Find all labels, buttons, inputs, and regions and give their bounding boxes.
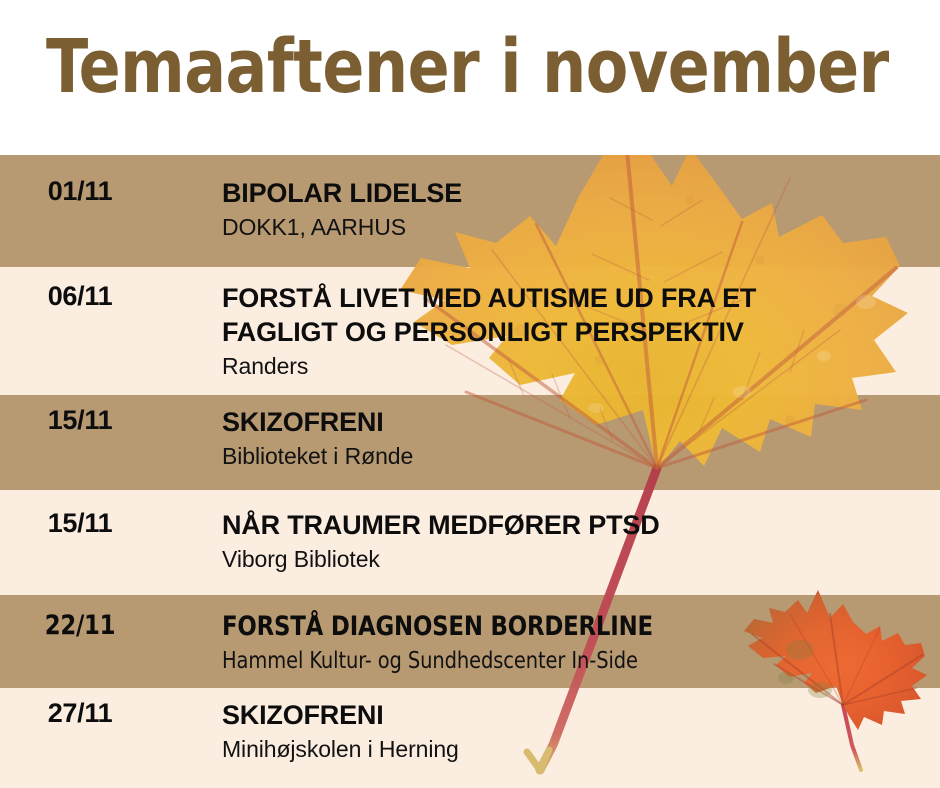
event-date: 15/11: [0, 405, 160, 436]
event-date: 06/11: [0, 281, 160, 312]
event-row: 06/11 FORSTÅ LIVET MED AUTISME UD FRA ET…: [0, 281, 940, 381]
event-title: NÅR TRAUMER MEDFØRER PTSD: [222, 508, 940, 542]
event-date: 01/11: [0, 176, 160, 207]
event-body: FORSTÅ DIAGNOSEN BORDERLINE Hammel Kultu…: [160, 610, 940, 676]
event-title: SKIZOFRENI: [222, 698, 940, 732]
page-title: Temaaftener i november: [46, 26, 889, 108]
title-banner: Temaaftener i november: [0, 0, 940, 155]
event-venue: Randers: [222, 351, 940, 381]
event-venue: Biblioteket i Rønde: [222, 441, 940, 471]
event-title: FORSTÅ DIAGNOSEN BORDERLINE: [222, 610, 897, 644]
event-body: FORSTÅ LIVET MED AUTISME UD FRA ET FAGLI…: [160, 281, 940, 381]
event-venue: Hammel Kultur- og Sundhedscenter In-Side: [222, 646, 897, 676]
event-title: SKIZOFRENI: [222, 405, 940, 439]
event-body: BIPOLAR LIDELSE DOKK1, AARHUS: [160, 176, 940, 242]
event-venue: DOKK1, AARHUS: [222, 212, 940, 242]
event-body: NÅR TRAUMER MEDFØRER PTSD Viborg Bibliot…: [160, 508, 940, 574]
event-title: BIPOLAR LIDELSE: [222, 176, 940, 210]
event-row: 15/11 NÅR TRAUMER MEDFØRER PTSD Viborg B…: [0, 508, 940, 574]
event-title: FORSTÅ LIVET MED AUTISME UD FRA ET FAGLI…: [222, 281, 940, 349]
event-body: SKIZOFRENI Biblioteket i Rønde: [160, 405, 940, 471]
event-date: 22/11: [5, 610, 155, 641]
event-row: 15/11 SKIZOFRENI Biblioteket i Rønde: [0, 405, 940, 471]
event-body: SKIZOFRENI Minihøjskolen i Herning: [160, 698, 940, 764]
event-row: 27/11 SKIZOFRENI Minihøjskolen i Herning: [0, 698, 940, 764]
event-date: 27/11: [0, 698, 160, 729]
event-row: 01/11 BIPOLAR LIDELSE DOKK1, AARHUS: [0, 176, 940, 242]
event-row: 22/11 FORSTÅ DIAGNOSEN BORDERLINE Hammel…: [0, 610, 940, 676]
poster-canvas: Temaaftener i november 01/11 BIPOLAR LID…: [0, 0, 940, 788]
event-date: 15/11: [0, 508, 160, 539]
event-venue: Minihøjskolen i Herning: [222, 734, 940, 764]
event-venue: Viborg Bibliotek: [222, 544, 940, 574]
